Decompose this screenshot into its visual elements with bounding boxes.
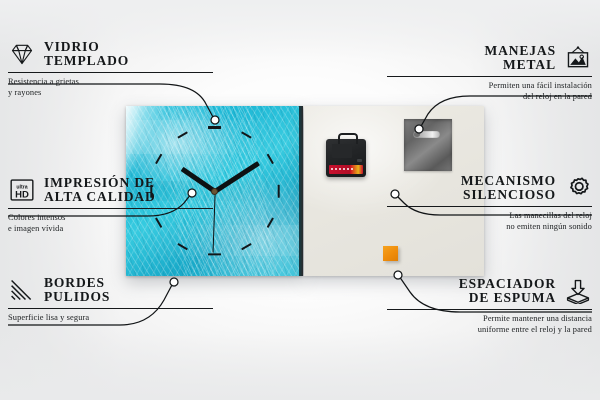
- feature-title: IMPRESIÓN DE ALTA CALIDAD: [44, 176, 156, 204]
- ultra-hd-icon: ultra HD: [8, 177, 36, 203]
- diamond-icon: [8, 41, 36, 67]
- polished-edges-icon: [8, 277, 36, 303]
- glass-edge: [299, 106, 303, 276]
- hanging-frame-icon: [564, 45, 592, 71]
- feature-header: BORDES PULIDOS: [8, 276, 213, 304]
- feature-mecanismo-silencioso[interactable]: MECANISMO SILENCIOSO Las manecillas del …: [387, 174, 592, 232]
- feature-description: Resistencia a grietas y rayones: [8, 77, 213, 98]
- metal-hanger-plate: [404, 119, 452, 171]
- svg-text:HD: HD: [15, 189, 29, 200]
- feature-divider: [387, 76, 592, 77]
- foam-spacer-pad: [383, 246, 398, 261]
- feature-header: MANEJAS METAL: [387, 44, 592, 72]
- infographic-canvas: VIDRIO TEMPLADO Resistencia a grietas y …: [0, 0, 600, 400]
- feature-espaciador-espuma[interactable]: ESPACIADOR DE ESPUMA Permite mantener un…: [387, 277, 592, 335]
- clock-tick: [277, 184, 279, 197]
- feature-title: MANEJAS METAL: [484, 44, 556, 72]
- feature-description: Permite mantener una distancia uniforme …: [387, 314, 592, 335]
- feature-divider: [387, 206, 592, 207]
- movement-bail: [338, 133, 358, 144]
- feature-divider: [8, 308, 213, 309]
- background-vignette-bottom: [0, 330, 600, 400]
- press-down-icon: [564, 278, 592, 304]
- battery-label-strip: [329, 165, 363, 174]
- feather-highlight-band-1: [126, 120, 303, 154]
- feature-divider: [8, 72, 213, 73]
- clock-tick: [208, 253, 221, 255]
- movement-faceplate: [332, 144, 352, 158]
- feature-divider: [8, 208, 213, 209]
- feature-divider: [387, 309, 592, 310]
- feature-manejas-metal[interactable]: MANEJAS METAL Permiten una fácil instala…: [387, 44, 592, 102]
- feature-title: ESPACIADOR DE ESPUMA: [459, 277, 556, 305]
- feature-vidrio-templado[interactable]: VIDRIO TEMPLADO Resistencia a grietas y …: [8, 40, 213, 98]
- feature-header: ESPACIADOR DE ESPUMA: [387, 277, 592, 305]
- feature-header: VIDRIO TEMPLADO: [8, 40, 213, 68]
- movement-terminal: [357, 159, 362, 162]
- feature-description: Superficie lisa y segura: [8, 313, 213, 324]
- feature-title: VIDRIO TEMPLADO: [44, 40, 129, 68]
- feature-description: Colores intensos e imagen vívida: [8, 213, 213, 234]
- feature-header: MECANISMO SILENCIOSO: [387, 174, 592, 202]
- feature-title: BORDES PULIDOS: [44, 276, 110, 304]
- feature-bordes-pulidos[interactable]: BORDES PULIDOS Superficie lisa y segura: [8, 276, 213, 324]
- feature-impresion-alta-calidad[interactable]: ultra HD IMPRESIÓN DE ALTA CALIDAD Color…: [8, 176, 213, 234]
- gear-icon: [564, 175, 592, 201]
- feature-title: MECANISMO SILENCIOSO: [461, 174, 556, 202]
- feature-header: ultra HD IMPRESIÓN DE ALTA CALIDAD: [8, 176, 213, 204]
- quartz-movement-box: [326, 139, 366, 177]
- hanger-keyhole-slot: [413, 131, 440, 138]
- feature-description: Permiten una fácil instalación del reloj…: [387, 81, 592, 102]
- feature-description: Las manecillas del reloj no emiten ningú…: [387, 211, 592, 232]
